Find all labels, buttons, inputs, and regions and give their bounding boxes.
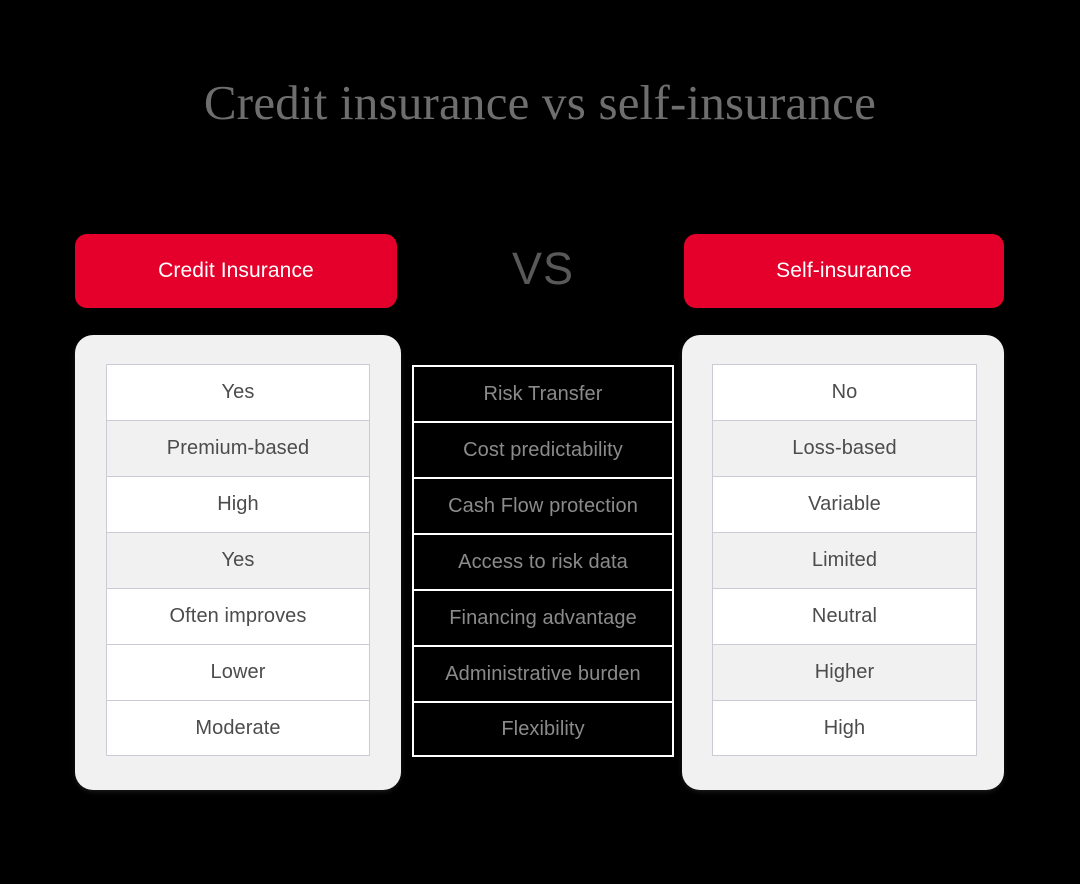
criterion-cell: Access to risk data bbox=[412, 533, 674, 589]
credit-insurance-cell: Lower bbox=[106, 644, 370, 700]
self-insurance-cell: Higher bbox=[712, 644, 977, 700]
credit-insurance-cell: High bbox=[106, 476, 370, 532]
self-insurance-cell: Loss-based bbox=[712, 420, 977, 476]
page-title: Credit insurance vs self-insurance bbox=[0, 72, 1080, 134]
self-insurance-cell: Neutral bbox=[712, 588, 977, 644]
criteria-column: Risk TransferCost predictabilityCash Flo… bbox=[412, 365, 674, 757]
criterion-cell: Cash Flow protection bbox=[412, 477, 674, 533]
criterion-cell: Financing advantage bbox=[412, 589, 674, 645]
self-insurance-cell: Limited bbox=[712, 532, 977, 588]
credit-insurance-cell: Premium-based bbox=[106, 420, 370, 476]
comparison-table: YesPremium-basedHighYesOften improvesLow… bbox=[0, 335, 1080, 790]
self-insurance-cell: Variable bbox=[712, 476, 977, 532]
criterion-cell: Cost predictability bbox=[412, 421, 674, 477]
criterion-cell: Administrative burden bbox=[412, 645, 674, 701]
credit-insurance-cell: Yes bbox=[106, 364, 370, 420]
credit-insurance-cell: Yes bbox=[106, 532, 370, 588]
self-insurance-cell: High bbox=[712, 700, 977, 756]
credit-insurance-cell: Moderate bbox=[106, 700, 370, 756]
self-insurance-card: NoLoss-basedVariableLimitedNeutralHigher… bbox=[682, 335, 1004, 790]
vs-separator-label: VS bbox=[412, 232, 674, 306]
criterion-cell: Risk Transfer bbox=[412, 365, 674, 421]
criterion-cell: Flexibility bbox=[412, 701, 674, 757]
credit-insurance-cell: Often improves bbox=[106, 588, 370, 644]
comparison-header-row: Credit Insurance VS Self-insurance bbox=[0, 234, 1080, 308]
credit-insurance-value-column: YesPremium-basedHighYesOften improvesLow… bbox=[106, 364, 370, 756]
column-header-self-insurance[interactable]: Self-insurance bbox=[684, 234, 1004, 308]
column-header-credit-insurance[interactable]: Credit Insurance bbox=[75, 234, 397, 308]
credit-insurance-card: YesPremium-basedHighYesOften improvesLow… bbox=[75, 335, 401, 790]
self-insurance-value-column: NoLoss-basedVariableLimitedNeutralHigher… bbox=[712, 364, 977, 756]
self-insurance-cell: No bbox=[712, 364, 977, 420]
